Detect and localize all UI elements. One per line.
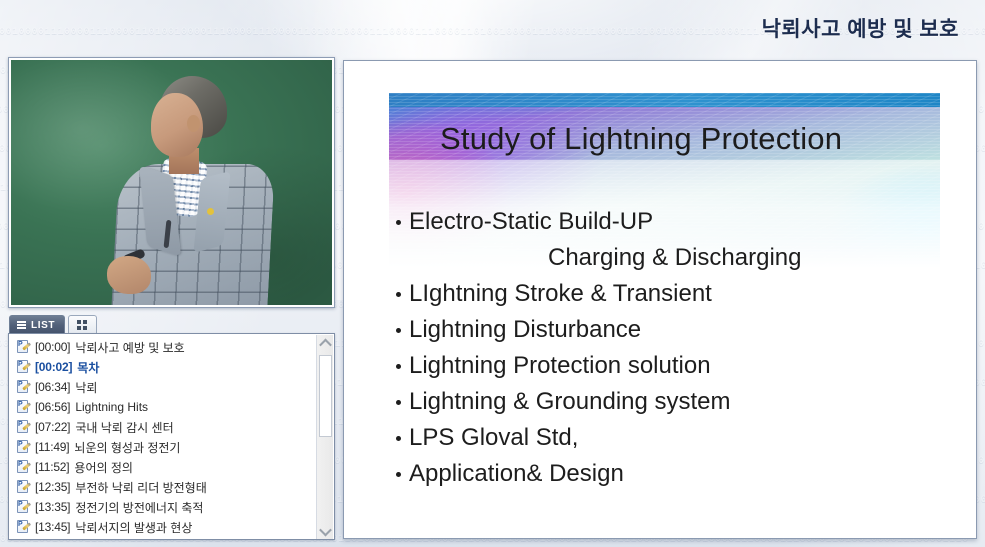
slide-bullet-list: Electro-Static Build-UP Charging & Disch…	[396, 204, 956, 492]
bullet-dot-icon	[396, 364, 401, 369]
list-item-time: [06:34]	[35, 380, 70, 394]
playlist-scrollbar[interactable]	[316, 335, 333, 540]
list-item[interactable]: P [00:02] 목차	[15, 357, 311, 377]
page-title: 낙뢰사고 예방 및 보호	[762, 13, 959, 43]
bullet-dot-icon	[396, 400, 401, 405]
tab-list[interactable]: LIST	[9, 315, 65, 334]
slide-subline: Charging & Discharging	[396, 240, 956, 276]
list-item[interactable]: P [12:35] 부전하 낙뢰 리더 방전형태	[15, 477, 311, 497]
slide-document-icon: P	[17, 380, 30, 394]
tab-thumbnails[interactable]	[68, 315, 97, 334]
list-item-label: 낙뢰사고 예방 및 보호	[75, 339, 184, 356]
bullet-dot-icon	[396, 220, 401, 225]
bullet-dot-icon	[396, 292, 401, 297]
slide-bullet-text: LPS Gloval Std,	[409, 420, 578, 456]
slide-title: Study of Lightning Protection	[440, 121, 842, 157]
page-header: 낙뢰사고 예방 및 보호	[0, 0, 985, 52]
tab-list-label: LIST	[31, 320, 55, 331]
grid-thumbnails-icon	[77, 320, 88, 331]
list-item-time: [00:02]	[35, 360, 72, 374]
lecturer-lapel-badge	[207, 208, 214, 215]
list-lines-icon	[17, 321, 26, 329]
slide-bullet-text: Electro-Static Build-UP	[409, 204, 653, 240]
slide-bullet: Lightning Protection solution	[396, 348, 956, 384]
list-item-time: [06:56]	[35, 400, 70, 414]
slide-bullet: Electro-Static Build-UP	[396, 204, 956, 240]
list-item-label: 낙뢰	[75, 379, 97, 396]
bullet-dot-icon	[396, 436, 401, 441]
list-item-time: [11:49]	[35, 440, 69, 454]
slide-bullet-text: Lightning Disturbance	[409, 312, 641, 348]
list-item-time: [13:35]	[35, 500, 70, 514]
slide-document-icon: P	[17, 340, 30, 354]
list-item[interactable]: P [11:49] 뇌운의 형성과 정전기	[15, 437, 311, 457]
slide-bullet-text: Lightning & Grounding system	[409, 384, 731, 420]
lecturer-figure	[11, 60, 332, 305]
lecturer-hand	[107, 256, 151, 294]
list-item-label: 용어의 정의	[74, 459, 133, 476]
chevron-up-icon	[319, 339, 332, 352]
list-item-time: [11:52]	[35, 460, 69, 474]
slide-document-icon: P	[17, 420, 30, 434]
list-item[interactable]: P [06:56] Lightning Hits	[15, 397, 311, 417]
list-item-label: Lightning Hits	[75, 400, 148, 414]
player-page: 0110010010000111000011100001101001000011…	[0, 0, 985, 547]
slide-document-icon: P	[17, 400, 30, 414]
slide-bullet: Lightning & Grounding system	[396, 384, 956, 420]
list-item[interactable]: P [11:52] 용어의 정의	[15, 457, 311, 477]
slide-bullet-text: Lightning Protection solution	[409, 348, 711, 384]
slide-bullet-text: LIghtning Stroke & Transient	[409, 276, 712, 312]
playlist-items: P [00:00] 낙뢰사고 예방 및 보호 P [00:02] 목차 P [0…	[9, 337, 311, 537]
slide-viewer[interactable]: Study of Lightning Protection Electro-St…	[343, 60, 977, 539]
list-item[interactable]: P [13:35] 정전기의 방전에너지 축적	[15, 497, 311, 517]
list-item-label: 부전하 낙뢰 리더 방전형태	[75, 479, 206, 496]
slide-document-icon: P	[17, 520, 30, 534]
scroll-up-button[interactable]	[317, 335, 334, 352]
scroll-down-button[interactable]	[317, 523, 334, 540]
video-player[interactable]	[8, 57, 335, 308]
list-item-time: [12:35]	[35, 480, 70, 494]
list-item[interactable]: P [00:00] 낙뢰사고 예방 및 보호	[15, 337, 311, 357]
slide-document-icon: P	[17, 440, 30, 454]
slide-document-icon: P	[17, 360, 30, 374]
bullet-dot-icon	[396, 472, 401, 477]
slide-bullet: LPS Gloval Std,	[396, 420, 956, 456]
slide-document-icon: P	[17, 460, 30, 474]
slide-bullet: Application& Design	[396, 456, 956, 492]
chevron-down-icon	[319, 524, 332, 537]
list-item-time: [07:22]	[35, 420, 70, 434]
slide-bullet: Lightning Disturbance	[396, 312, 956, 348]
video-frame	[11, 60, 332, 305]
bullet-dot-icon	[396, 328, 401, 333]
slide-bullet: LIghtning Stroke & Transient	[396, 276, 956, 312]
list-item-time: [13:45]	[35, 520, 70, 534]
list-item-label: 뇌운의 형성과 정전기	[74, 439, 180, 456]
list-item-label: 낙뢰서지의 발생과 현상	[75, 519, 192, 536]
list-item-label: 국내 낙뢰 감시 센터	[75, 419, 173, 436]
list-item-label: 목차	[77, 359, 99, 376]
slide-document-icon: P	[17, 500, 30, 514]
list-item-time: [00:00]	[35, 340, 70, 354]
lecturer-ear	[187, 115, 200, 132]
list-item[interactable]: P [06:34] 낙뢰	[15, 377, 311, 397]
scrollbar-thumb[interactable]	[319, 355, 332, 437]
slide-document-icon: P	[17, 480, 30, 494]
slide-bullet-text: Application& Design	[409, 456, 624, 492]
playlist-tabs: LIST	[9, 314, 97, 334]
list-item-label: 정전기의 방전에너지 축적	[75, 499, 203, 516]
list-item[interactable]: P [13:45] 낙뢰서지의 발생과 현상	[15, 517, 311, 537]
playlist-panel: P [00:00] 낙뢰사고 예방 및 보호 P [00:02] 목차 P [0…	[8, 333, 335, 540]
list-item[interactable]: P [07:22] 국내 낙뢰 감시 센터	[15, 417, 311, 437]
